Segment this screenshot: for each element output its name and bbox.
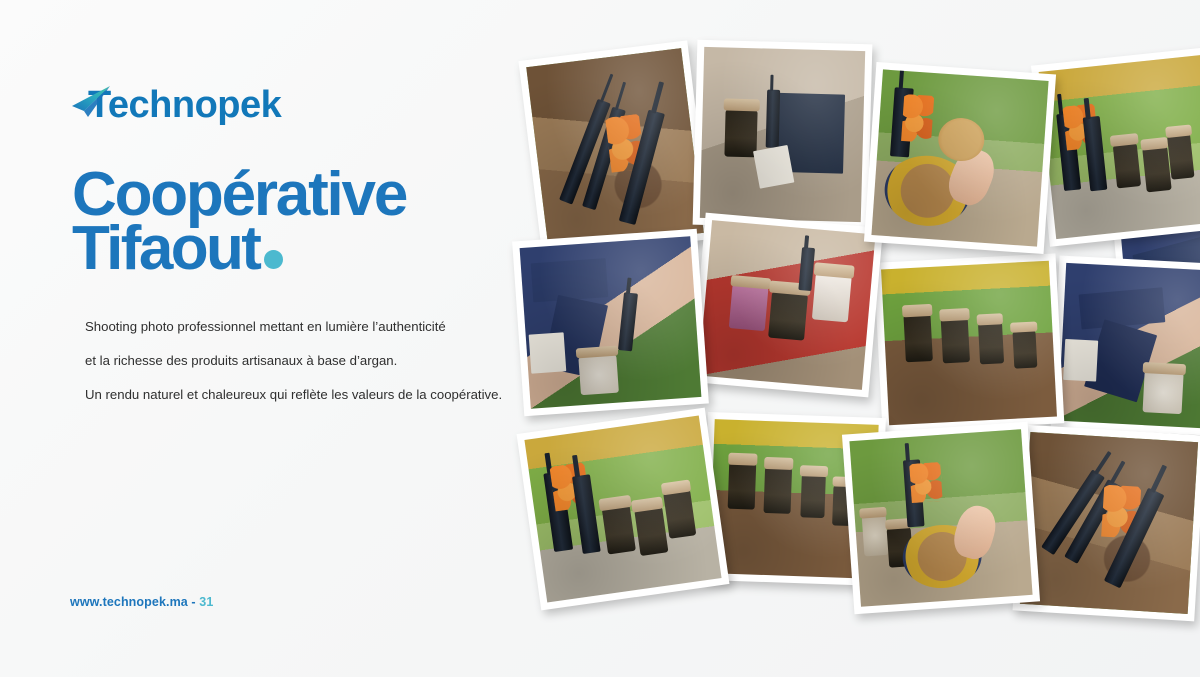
collage-photo[interactable] xyxy=(864,62,1056,254)
collage-photo[interactable] xyxy=(874,253,1065,432)
description-line-2: et la richesse des produits artisanaux à… xyxy=(85,354,545,367)
brand-logo[interactable]: Technopek xyxy=(68,74,281,126)
collage-photo[interactable] xyxy=(1012,425,1200,622)
footer-website[interactable]: www.technopek.ma xyxy=(70,595,188,609)
description-line-1: Shooting photo professionnel mettant en … xyxy=(85,320,545,333)
brand-name: Technopek xyxy=(88,86,281,126)
page-number: 31 xyxy=(199,595,213,609)
collage-photo[interactable] xyxy=(1051,256,1200,437)
paper-plane-icon xyxy=(68,80,114,126)
collage-photo[interactable] xyxy=(691,213,883,398)
description-line-3: Un rendu naturel et chaleureux qui reflè… xyxy=(85,388,545,401)
footer-separator: - xyxy=(191,595,195,609)
description-text: Shooting photo professionnel mettant en … xyxy=(85,320,545,402)
collage-photo[interactable] xyxy=(842,422,1040,615)
title-accent-dot xyxy=(264,250,283,269)
left-content-column: Technopek Coopérative Tifaout Shooting p… xyxy=(0,0,540,677)
collage-photo[interactable] xyxy=(693,40,873,230)
collage-photo[interactable] xyxy=(1031,47,1200,247)
title-line-2: Tifaout xyxy=(72,214,259,283)
collage-photo[interactable] xyxy=(517,408,730,611)
slide-canvas: Technopek Coopérative Tifaout Shooting p… xyxy=(0,0,1200,677)
collage-photo[interactable] xyxy=(518,40,711,259)
footer: www.technopek.ma - 31 xyxy=(70,595,213,609)
photo-collage xyxy=(500,20,1200,660)
page-title: Coopérative Tifaout xyxy=(72,168,542,276)
